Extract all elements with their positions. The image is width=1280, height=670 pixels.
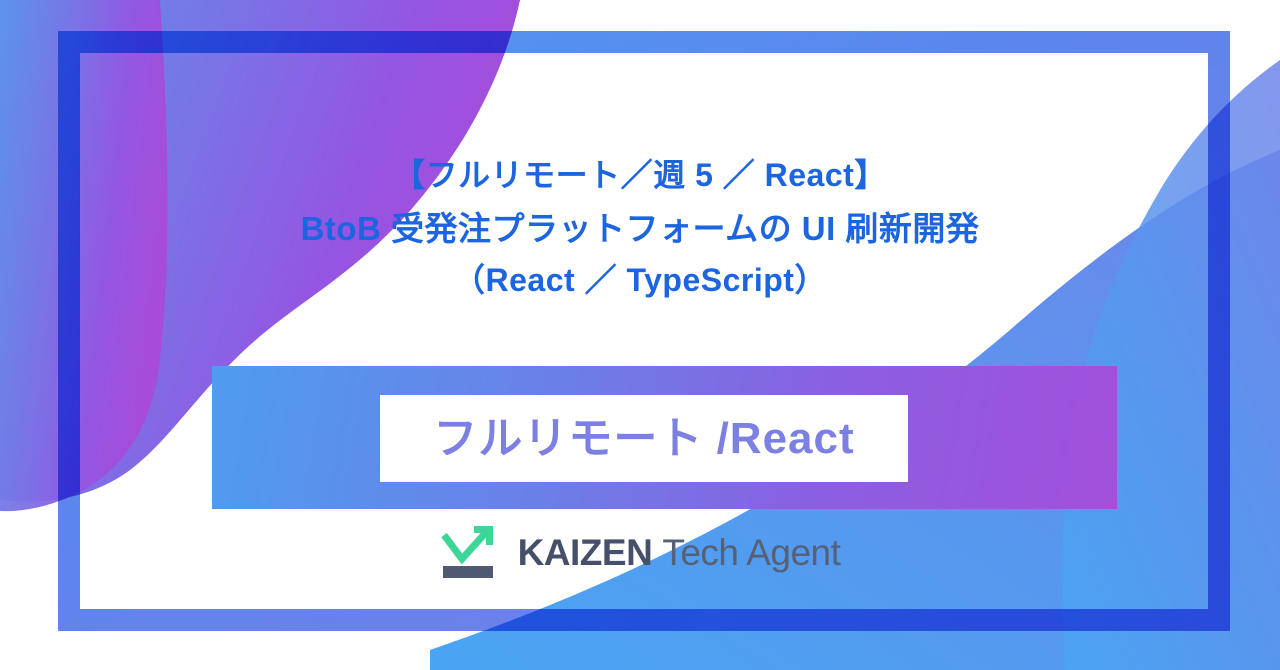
page-title: 【フルリモート／週 5 ／ React】 BtoB 受発注プラットフォームの U… [170,150,1110,307]
tag-banner: フルリモート /React [212,366,1117,509]
card-content: 【フルリモート／週 5 ／ React】 BtoB 受発注プラットフォームの U… [0,0,1280,670]
headline-line-1: 【フルリモート／週 5 ／ React】 [170,150,1110,202]
rising-trend-check-icon [440,521,502,583]
brand-logo: KAIZENTech Agent [0,521,1280,583]
brand-wordmark: KAIZENTech Agent [518,534,841,571]
headline-line-3: （React ／ TypeScript） [170,255,1110,307]
promo-card: 【フルリモート／週 5 ／ React】 BtoB 受発注プラットフォームの U… [0,0,1280,670]
brand-name-secondary: Tech Agent [662,532,840,573]
tag-chip-label: フルリモート /React [433,417,854,461]
tag-chip: フルリモート /React [380,395,908,482]
brand-name-primary: KAIZEN [518,532,653,573]
headline-line-2: BtoB 受発注プラットフォームの UI 刷新開発 [170,202,1110,255]
